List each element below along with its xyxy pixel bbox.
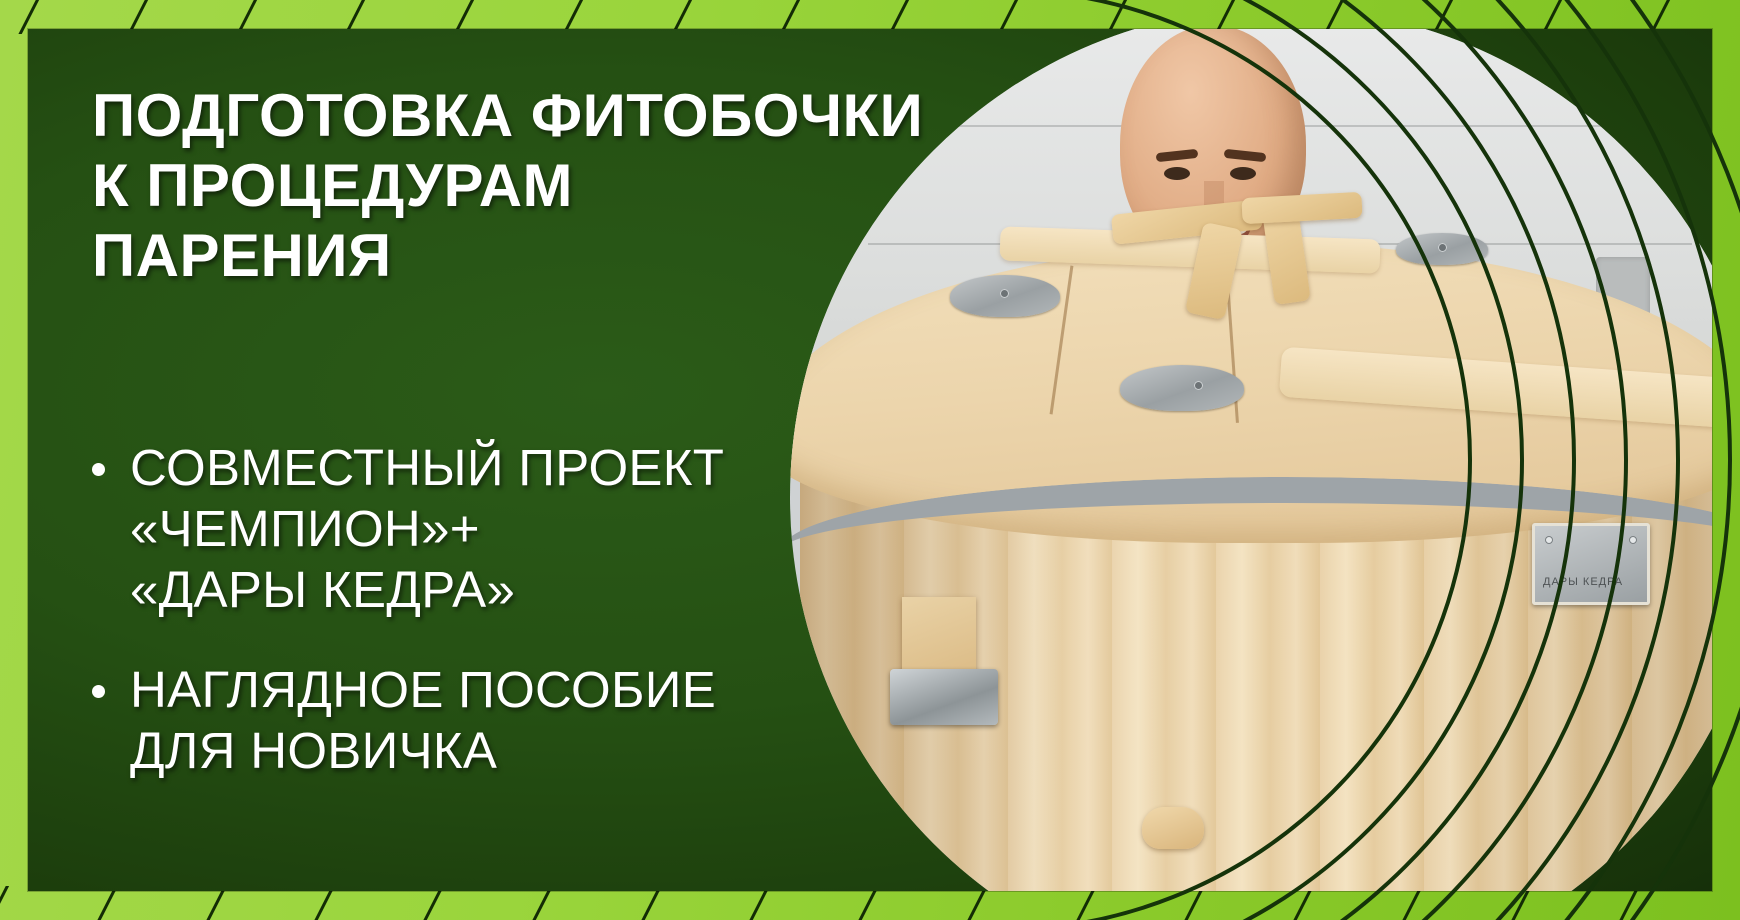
lid-hinge-plate (1120, 365, 1244, 411)
lid-hinge-plate (950, 275, 1060, 317)
nameplate-label: ДАРЫ КЕДРА (1543, 576, 1623, 588)
frame-tick (422, 886, 448, 920)
bullet-list: СОВМЕСТНЫЙ ПРОЕКТ «ЧЕМПИОН»+ «ДАРЫ КЕДРА… (88, 437, 968, 819)
frame-tick (0, 886, 13, 920)
video-thumbnail: ПОДГОТОВКА ФИТОБОЧКИ К ПРОЦЕДУРАМ ПАРЕНИ… (0, 0, 1740, 920)
wooden-peg (1142, 807, 1204, 849)
frame-tick (313, 886, 339, 920)
eyebrow-right-icon (1224, 149, 1267, 162)
page-title: ПОДГОТОВКА ФИТОБОЧКИ К ПРОЦЕДУРАМ ПАРЕНИ… (92, 81, 952, 292)
brand-nameplate: ДАРЫ КЕДРА (1532, 523, 1650, 605)
frame-tick (857, 886, 883, 920)
eyebrow-left-icon (1156, 149, 1199, 162)
frame-tick (1400, 886, 1426, 920)
eye-right-icon (1230, 167, 1256, 180)
frame-tick (1074, 886, 1100, 920)
lid-hinge-plate (1396, 233, 1488, 265)
content-panel: ПОДГОТОВКА ФИТОБОЧКИ К ПРОЦЕДУРАМ ПАРЕНИ… (28, 29, 1712, 891)
frame-tick (1618, 886, 1644, 920)
frame-tick (965, 886, 991, 920)
frame-tick (1183, 886, 1209, 920)
bottom-frame-ticks (0, 886, 1740, 920)
list-item: СОВМЕСТНЫЙ ПРОЕКТ «ЧЕМПИОН»+ «ДАРЫ КЕДРА… (88, 437, 968, 621)
title-block: ПОДГОТОВКА ФИТОБОЧКИ К ПРОЦЕДУРАМ ПАРЕНИ… (92, 81, 952, 292)
frame-tick (95, 886, 121, 920)
frame-tick (639, 886, 665, 920)
frame-tick (1509, 886, 1535, 920)
eye-left-icon (1164, 167, 1190, 180)
frame-tick (204, 886, 230, 920)
frame-tick (1292, 886, 1318, 920)
list-item: НАГЛЯДНОЕ ПОСОБИЕ ДЛЯ НОВИЧКА (88, 659, 968, 781)
frame-tick (530, 886, 556, 920)
frame-tick (748, 886, 774, 920)
